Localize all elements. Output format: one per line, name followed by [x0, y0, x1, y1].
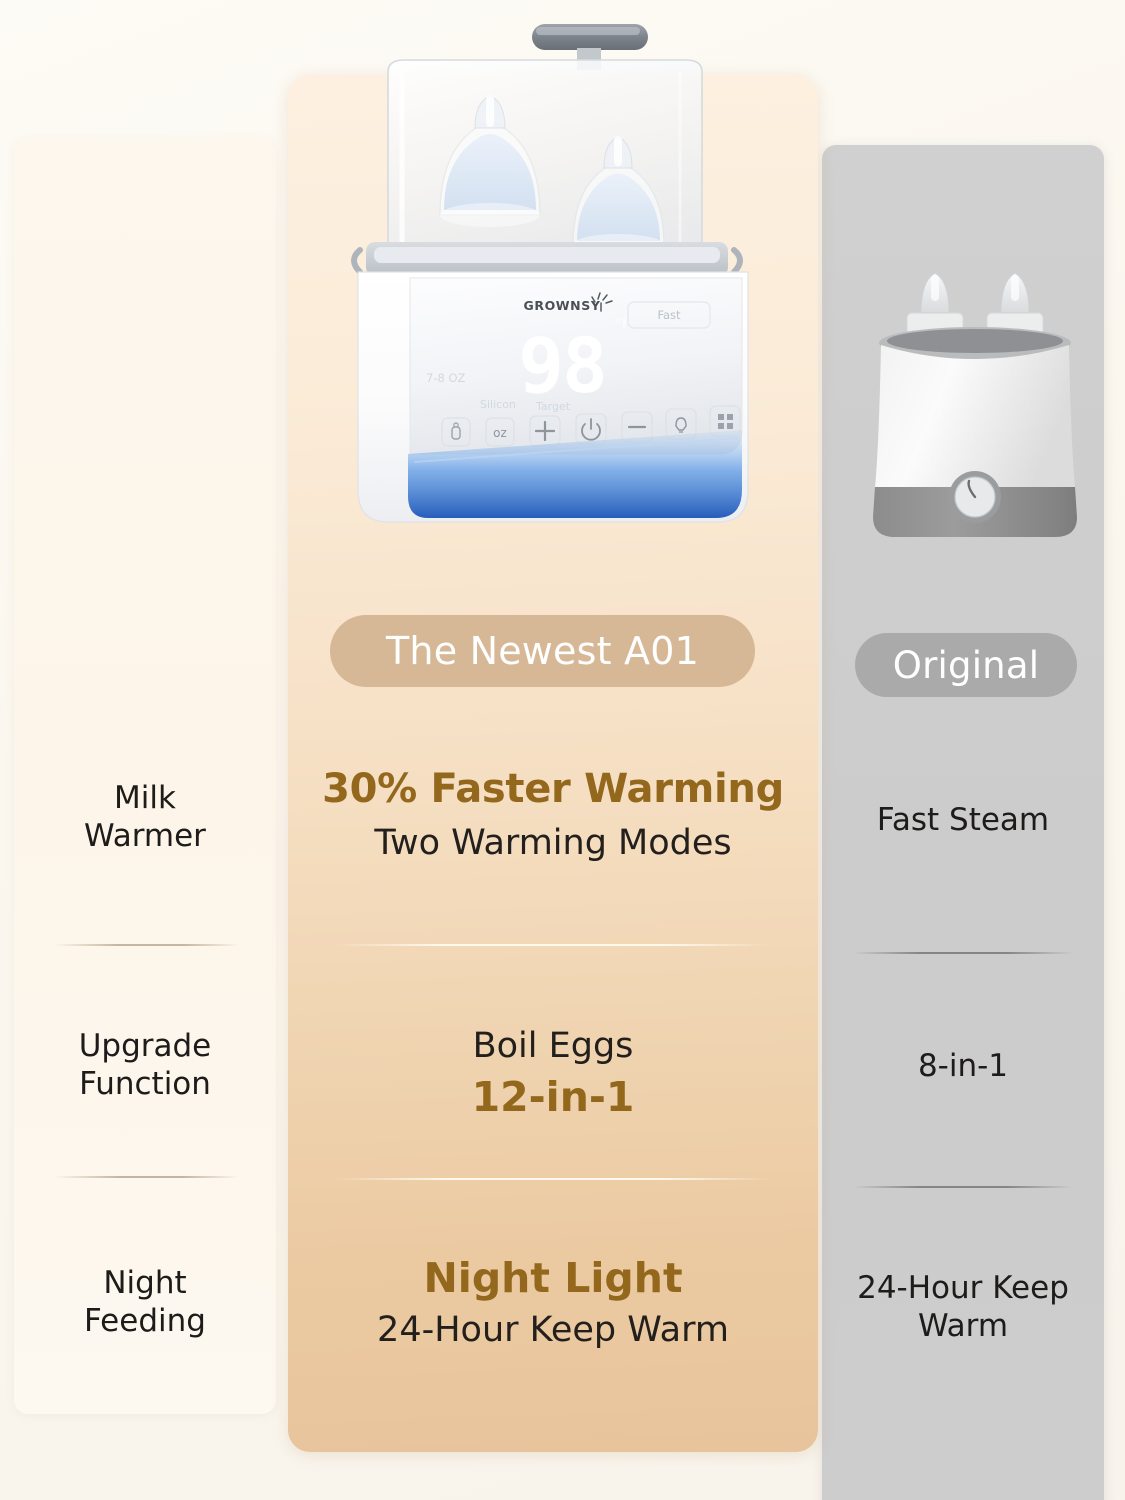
label-line-2: Warmer — [84, 818, 206, 854]
svg-text:Silicon: Silicon — [480, 398, 516, 411]
comparison-infographic: GROWNSY 98 °F 7-8 OZ Silicon Target — [0, 0, 1125, 1500]
feature-label-milk-warmer: Milk Warmer — [14, 780, 276, 856]
svg-text:Fast: Fast — [657, 308, 681, 322]
svg-text:Target: Target — [535, 400, 571, 413]
original-feature-line-1: Fast Steam — [877, 802, 1049, 838]
feature-label-upgrade-function: Upgrade Function — [14, 1028, 276, 1104]
new-feature-sub: 24-Hour Keep Warm — [288, 1309, 818, 1352]
svg-text:GROWNSY: GROWNSY — [523, 298, 600, 313]
original-body — [875, 345, 1075, 487]
badge-original-product: Original — [855, 633, 1077, 697]
new-feature-highlight: Night Light — [288, 1253, 818, 1303]
label-line-2: Feeding — [84, 1303, 206, 1339]
feature-label-panel — [14, 138, 276, 1414]
label-line-1: Upgrade — [79, 1028, 212, 1064]
label-line-2: Function — [79, 1066, 211, 1102]
new-feature-night-feeding: Night Light 24-Hour Keep Warm — [288, 1253, 818, 1352]
divider-right-1 — [853, 952, 1073, 954]
badge-new-product: The Newest A01 — [330, 615, 755, 687]
steam-tray — [354, 242, 740, 276]
label-line-1: Night — [103, 1265, 186, 1301]
divider-center-2 — [333, 1178, 773, 1180]
original-feature-line-2: Warm — [918, 1308, 1008, 1344]
original-feature-line-1: 24-Hour Keep — [857, 1270, 1069, 1306]
original-feature-milk-warmer: Fast Steam — [822, 802, 1104, 840]
divider-left-2 — [54, 1176, 239, 1178]
new-feature-sub: Two Warming Modes — [288, 822, 818, 865]
new-feature-sub: Boil Eggs — [288, 1025, 818, 1068]
svg-text:98: 98 — [518, 321, 606, 410]
new-feature-highlight: 12-in-1 — [288, 1072, 818, 1122]
new-feature-highlight: 30% Faster Warming — [288, 765, 818, 814]
original-feature-upgrade-function: 8-in-1 — [822, 1048, 1104, 1086]
svg-text:7-8 OZ: 7-8 OZ — [426, 371, 465, 385]
divider-right-2 — [853, 1186, 1073, 1188]
svg-text:oz: oz — [493, 426, 507, 440]
original-product-image — [855, 255, 1095, 545]
rotary-dial-knob[interactable] — [949, 471, 1001, 523]
new-feature-upgrade-function: Boil Eggs 12-in-1 — [288, 1025, 818, 1122]
divider-left-1 — [54, 944, 239, 946]
warmer-body: GROWNSY 98 °F 7-8 OZ Silicon Target — [358, 272, 748, 522]
label-line-1: Milk — [114, 780, 176, 816]
feature-label-night-feeding: Night Feeding — [14, 1265, 276, 1341]
new-product-image: GROWNSY 98 °F 7-8 OZ Silicon Target — [330, 10, 790, 570]
original-feature-line-1: 8-in-1 — [918, 1048, 1008, 1084]
new-feature-milk-warmer: 30% Faster Warming Two Warming Modes — [288, 765, 818, 864]
divider-center-1 — [333, 944, 773, 946]
original-feature-night-feeding: 24-Hour Keep Warm — [822, 1270, 1104, 1346]
